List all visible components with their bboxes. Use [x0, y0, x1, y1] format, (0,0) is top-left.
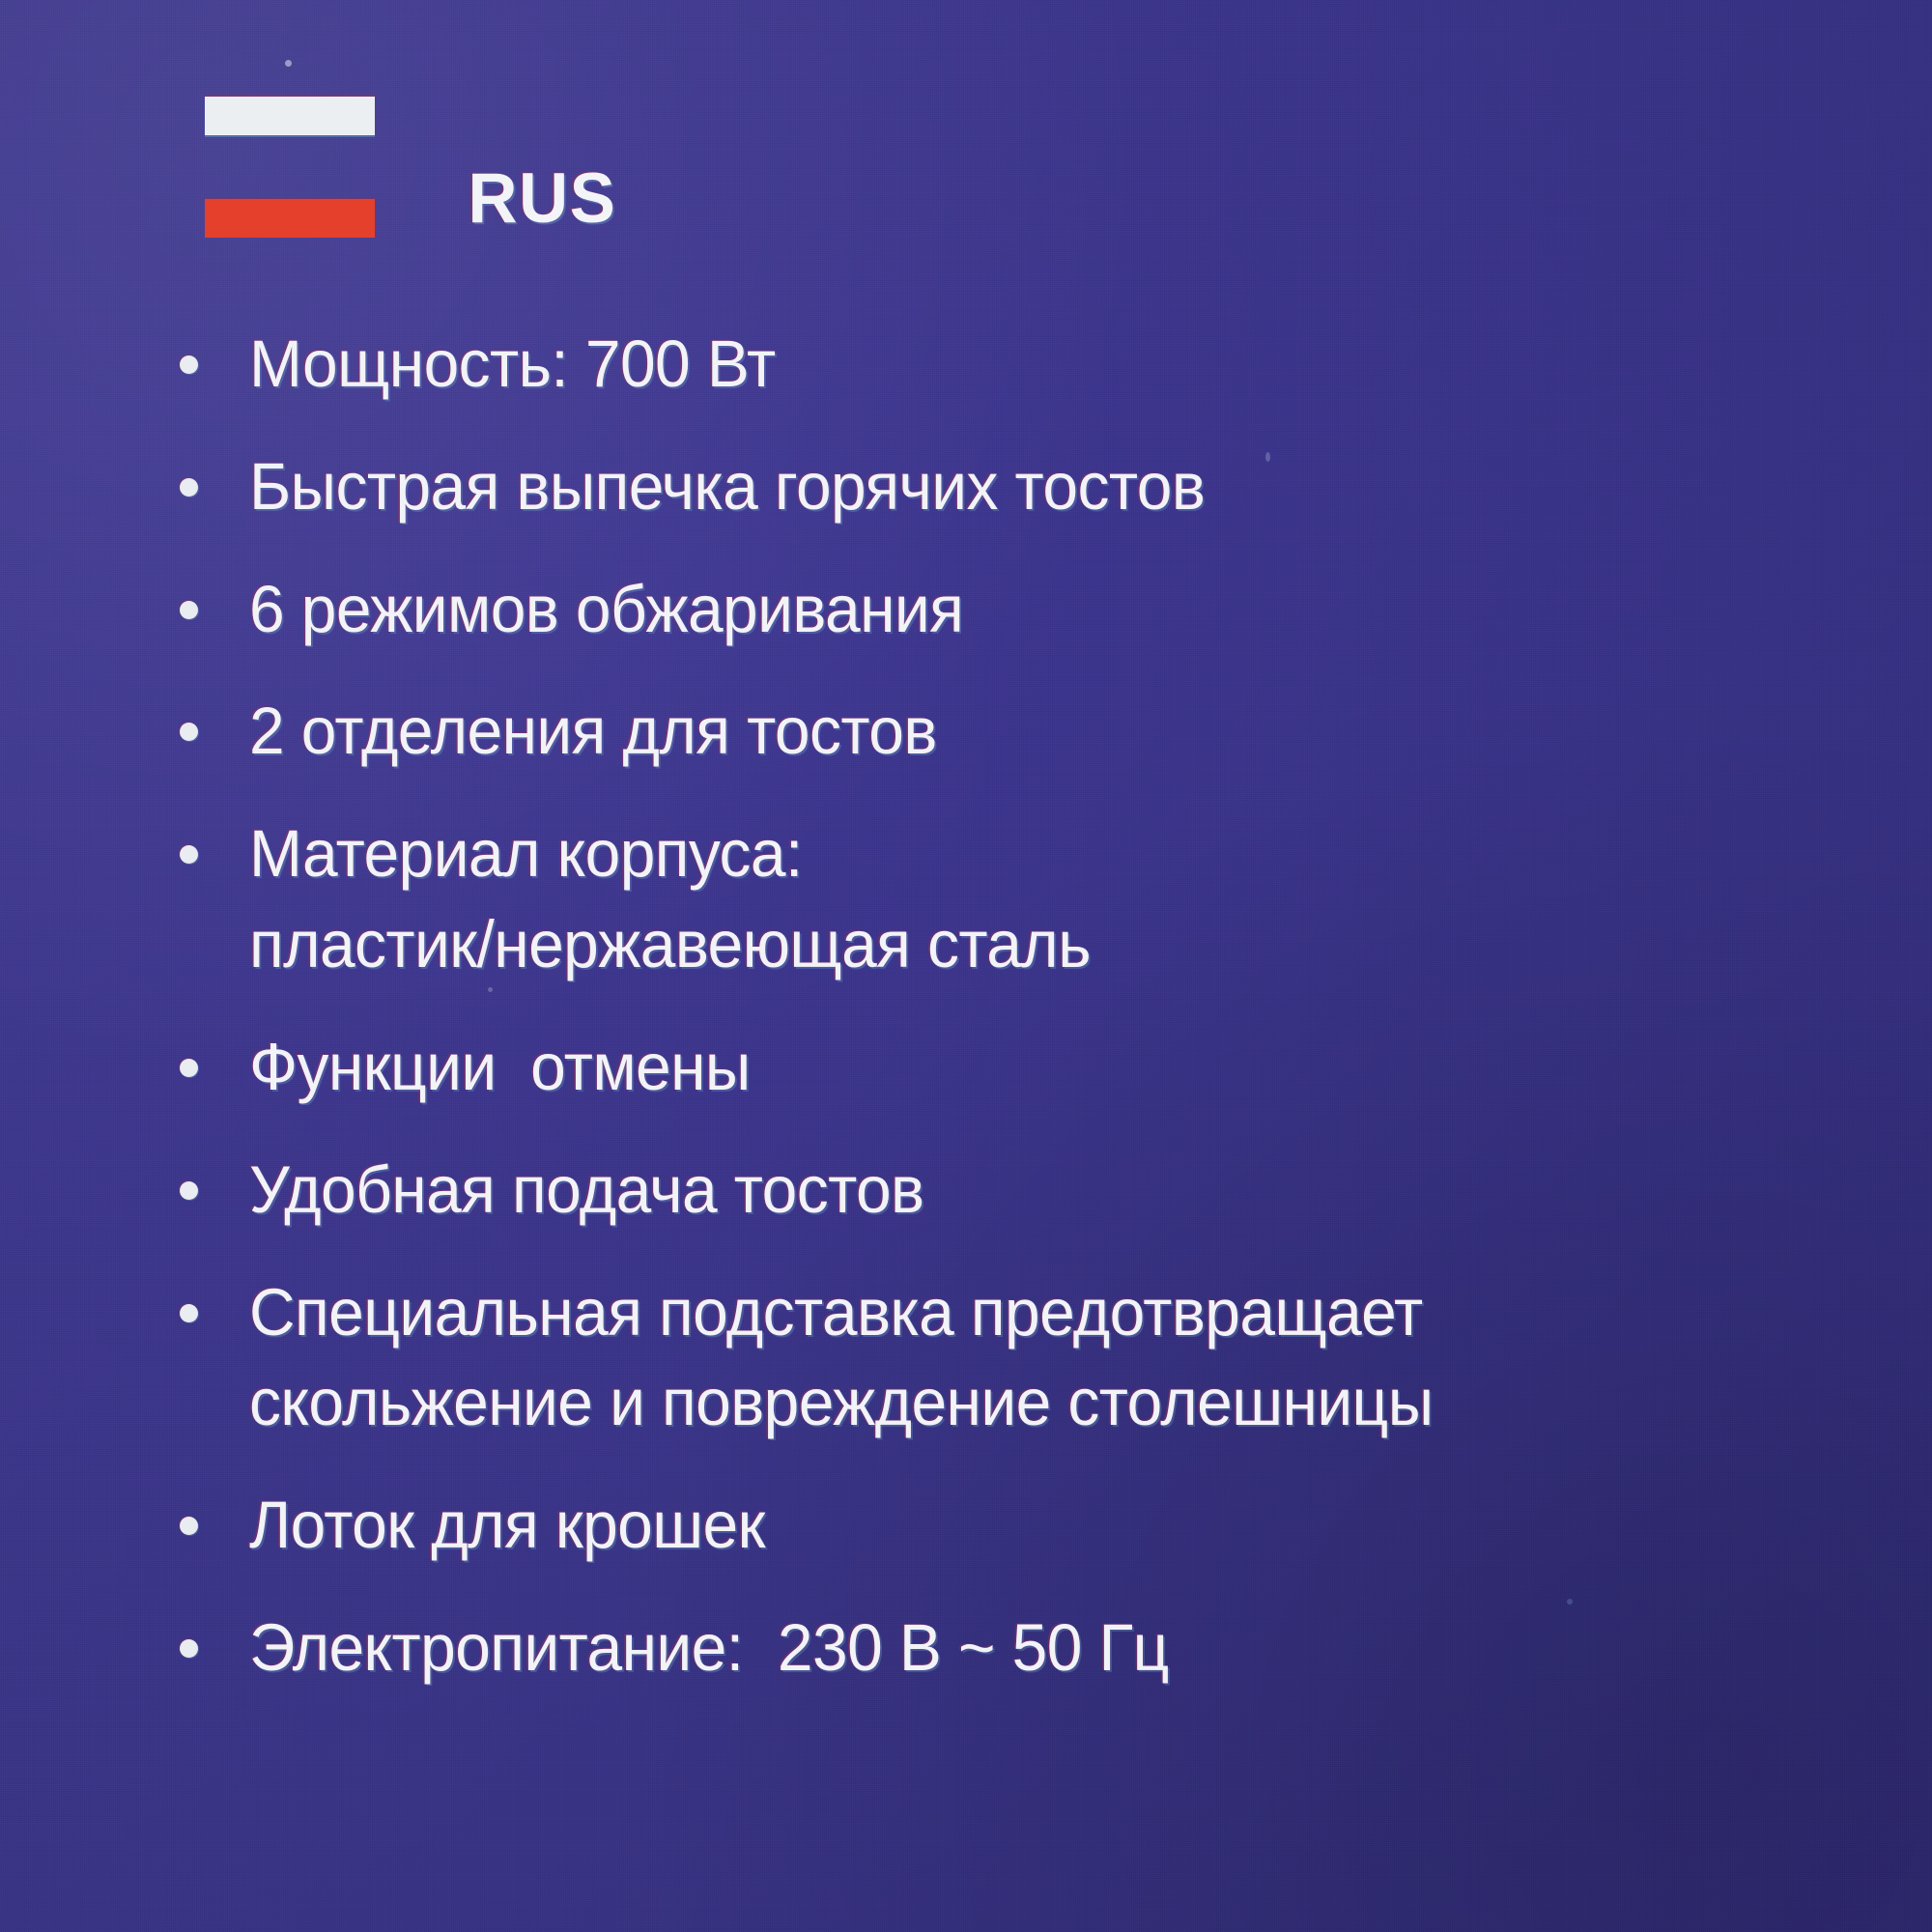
- language-code-label: RUS: [468, 163, 616, 234]
- bullet-dot-icon: [180, 1639, 198, 1658]
- list-item: Удобная подача тостов: [164, 1145, 1913, 1236]
- feature-text: Мощность: 700 Вт: [249, 319, 1838, 410]
- bullet-dot-icon: [180, 355, 198, 374]
- feature-text-continued: пластик/нержавеющая сталь: [249, 899, 1838, 990]
- feature-text: Лоток для крошек: [249, 1480, 1838, 1571]
- feature-list: Мощность: 700 Вт Быстрая выпечка горячих…: [164, 319, 1913, 1693]
- list-item: Специальная подставка предотвращает скол…: [164, 1267, 1913, 1449]
- list-item: Мощность: 700 Вт: [164, 319, 1913, 410]
- bullet-dot-icon: [180, 1059, 198, 1077]
- feature-text: Быстрая выпечка горячих тостов: [249, 441, 1838, 532]
- flag-stripe-white: [205, 97, 375, 135]
- russia-flag-icon: [205, 97, 375, 238]
- bullet-dot-icon: [180, 723, 198, 741]
- feature-text: 6 режимов обжаривания: [249, 564, 1838, 655]
- feature-text: Материал корпуса:: [249, 809, 1838, 899]
- list-item: 6 режимов обжаривания: [164, 564, 1913, 655]
- bullet-dot-icon: [180, 1517, 198, 1535]
- list-item: Материал корпуса: пластик/нержавеющая ст…: [164, 809, 1913, 990]
- feature-text: 2 отделения для тостов: [249, 686, 1838, 777]
- bullet-dot-icon: [180, 478, 198, 497]
- feature-text: Функции отмены: [249, 1022, 1838, 1113]
- bullet-dot-icon: [180, 601, 198, 619]
- flag-stripe-red: [205, 199, 375, 238]
- feature-text: Специальная подставка предотвращает: [249, 1267, 1838, 1358]
- bullet-dot-icon: [180, 1304, 198, 1322]
- list-item: Электропитание: 230 В ~ 50 Гц: [164, 1603, 1913, 1693]
- language-header: RUS: [205, 97, 619, 238]
- feature-text: Удобная подача тостов: [249, 1145, 1838, 1236]
- toaster-packaging-spec-panel: RUS Мощность: 700 Вт Быстрая выпечка гор…: [0, 0, 1932, 1932]
- list-item: Лоток для крошек: [164, 1480, 1913, 1571]
- list-item: 2 отделения для тостов: [164, 686, 1913, 777]
- bullet-dot-icon: [180, 1181, 198, 1200]
- feature-text-continued: скольжение и повреждение столешницы: [249, 1357, 1838, 1448]
- flag-stripe-blue: [205, 148, 375, 186]
- feature-text: Электропитание: 230 В ~ 50 Гц: [249, 1603, 1838, 1693]
- bullet-dot-icon: [180, 845, 198, 864]
- list-item: Функции отмены: [164, 1022, 1913, 1113]
- print-speck: [285, 60, 292, 67]
- list-item: Быстрая выпечка горячих тостов: [164, 441, 1913, 532]
